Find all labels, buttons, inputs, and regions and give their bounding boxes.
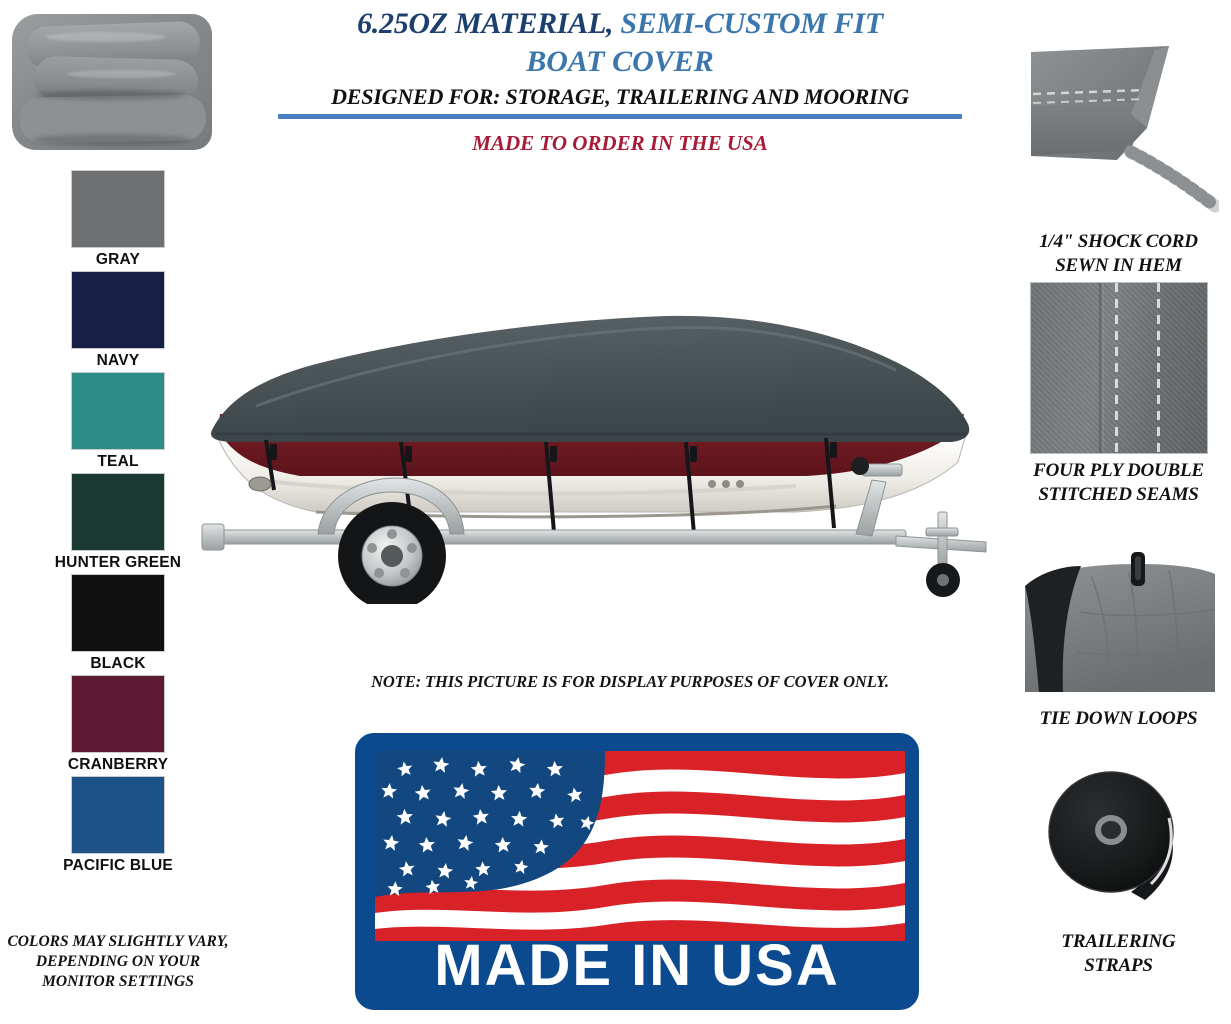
trailer-bow-roller xyxy=(851,457,869,475)
trailer-jack-handle xyxy=(926,528,958,536)
product-image-canvas: 6.25OZ MATERIAL, SEMI-CUSTOM FIT BOAT CO… xyxy=(0,0,1231,1024)
buckle-3 xyxy=(550,446,557,462)
seam-fold-edge xyxy=(1099,283,1104,453)
feature-tie-down-loops-label-line-1: TIE DOWN LOOPS xyxy=(1006,707,1231,731)
trailer-jack-post xyxy=(938,512,947,570)
feature-trailering-straps-label: TRAILERING STRAPS xyxy=(1006,925,1231,978)
feature-tie-down-loops: TIE DOWN LOOPS xyxy=(1006,552,1231,731)
trailer-jack-wheel-hub xyxy=(937,574,949,586)
swatch-label-black: BLACK xyxy=(0,652,236,675)
boat-on-trailer-illustration xyxy=(196,284,1016,604)
trailer-wheel xyxy=(338,502,446,604)
display-purposes-note: NOTE: THIS PICTURE IS FOR DISPLAY PURPOS… xyxy=(300,672,960,692)
buckle-5 xyxy=(830,442,837,458)
wheel-hub xyxy=(381,545,403,567)
title-line-1: 6.25OZ MATERIAL, SEMI-CUSTOM FIT xyxy=(250,4,990,43)
swatch-chip-black[interactable] xyxy=(71,574,165,652)
header-subtitle: DESIGNED FOR: STORAGE, TRAILERING AND MO… xyxy=(250,82,990,112)
feature-stitched-seams-label-line-2: STITCHED SEAMS xyxy=(1006,483,1231,507)
folded-cover-shadow-1 xyxy=(36,90,186,100)
tie-down-loop-highlight xyxy=(1135,556,1141,580)
swatch-label-cranberry: CRANBERRY xyxy=(0,753,236,776)
color-disclaimer-line-3: MONITOR SETTINGS xyxy=(0,972,236,992)
swatch-item-pacific-blue[interactable]: PACIFIC BLUE xyxy=(0,776,236,877)
swatch-item-cranberry[interactable]: CRANBERRY xyxy=(0,675,236,776)
title-line-2: BOAT COVER xyxy=(250,43,990,80)
header-block: 6.25OZ MATERIAL, SEMI-CUSTOM FIT BOAT CO… xyxy=(250,4,990,157)
shock-cord-hem-photo xyxy=(1019,10,1219,225)
hull-port-2 xyxy=(722,480,730,488)
folded-cover-crease-2 xyxy=(66,70,176,78)
swatch-label-pacific-blue: PACIFIC BLUE xyxy=(0,854,236,877)
swatch-chip-navy[interactable] xyxy=(71,271,165,349)
folded-cover-photo xyxy=(6,4,218,156)
feature-shock-cord-label-line-1: 1/4" SHOCK CORD xyxy=(1006,230,1231,254)
trailering-strap-roll-photo xyxy=(1019,760,1219,925)
seam-stitch-line-1 xyxy=(1115,283,1118,453)
feature-shock-cord-label: 1/4" SHOCK CORD SEWN IN HEM xyxy=(1006,225,1231,278)
feature-stitched-seams-label: FOUR PLY DOUBLE STITCHED SEAMS xyxy=(1006,454,1231,507)
swatch-chip-hunter-green[interactable] xyxy=(71,473,165,551)
trailer-rear-bracket xyxy=(202,524,224,550)
trailer-main-beam xyxy=(206,530,906,544)
hull-port-3 xyxy=(736,480,744,488)
title-material-text: 6.25OZ MATERIAL, xyxy=(357,7,613,40)
feature-stitched-seams: FOUR PLY DOUBLE STITCHED SEAMS xyxy=(1006,282,1231,507)
double-stitched-seam-photo xyxy=(1030,282,1208,454)
color-disclaimer-line-1: COLORS MAY SLIGHTLY VARY, xyxy=(0,932,236,952)
feature-stitched-seams-label-line-1: FOUR PLY DOUBLE xyxy=(1006,459,1231,483)
color-disclaimer-line-2: DEPENDING ON YOUR xyxy=(0,952,236,972)
feature-shock-cord: 1/4" SHOCK CORD SEWN IN HEM xyxy=(1006,10,1231,278)
made-to-order-text: MADE TO ORDER IN THE USA xyxy=(250,129,990,157)
buckle-2 xyxy=(405,446,412,462)
made-in-usa-text: MADE IN USA xyxy=(355,936,919,996)
swatch-label-gray: GRAY xyxy=(0,248,236,271)
feature-trailering-straps-label-line-1: TRAILERING xyxy=(1006,930,1231,954)
buckle-4 xyxy=(690,446,697,462)
made-in-usa-badge: MADE IN USA xyxy=(352,730,922,1013)
strap-roll-core xyxy=(1101,821,1121,839)
tie-down-loop-photo xyxy=(1019,552,1219,702)
swatch-chip-pacific-blue[interactable] xyxy=(71,776,165,854)
shock-cord xyxy=(1131,152,1215,206)
feature-trailering-straps-label-line-2: STRAPS xyxy=(1006,954,1231,978)
color-disclaimer: COLORS MAY SLIGHTLY VARY, DEPENDING ON Y… xyxy=(0,932,236,992)
buckle-1 xyxy=(270,444,277,460)
title-fit-text: SEMI-CUSTOM FIT xyxy=(620,7,883,40)
hull-port-1 xyxy=(708,480,716,488)
swatch-item-gray[interactable]: GRAY xyxy=(0,170,236,271)
seam-stitch-line-2 xyxy=(1157,283,1160,453)
swatch-chip-gray[interactable] xyxy=(71,170,165,248)
folded-cover-shadow-2 xyxy=(32,134,192,146)
feature-callout-column: 1/4" SHOCK CORD SEWN IN HEM FOUR PLY DOU… xyxy=(1006,0,1231,1024)
feature-shock-cord-label-line-2: SEWN IN HEM xyxy=(1006,254,1231,278)
swatch-chip-cranberry[interactable] xyxy=(71,675,165,753)
folded-cover-crease-1 xyxy=(46,32,166,42)
feature-tie-down-loops-label: TIE DOWN LOOPS xyxy=(1006,702,1231,731)
hull-vent xyxy=(249,477,271,491)
usa-flag-graphic xyxy=(375,751,905,941)
feature-trailering-straps: TRAILERING STRAPS xyxy=(1006,760,1231,978)
header-divider-rule xyxy=(278,114,962,119)
swatch-chip-teal[interactable] xyxy=(71,372,165,450)
